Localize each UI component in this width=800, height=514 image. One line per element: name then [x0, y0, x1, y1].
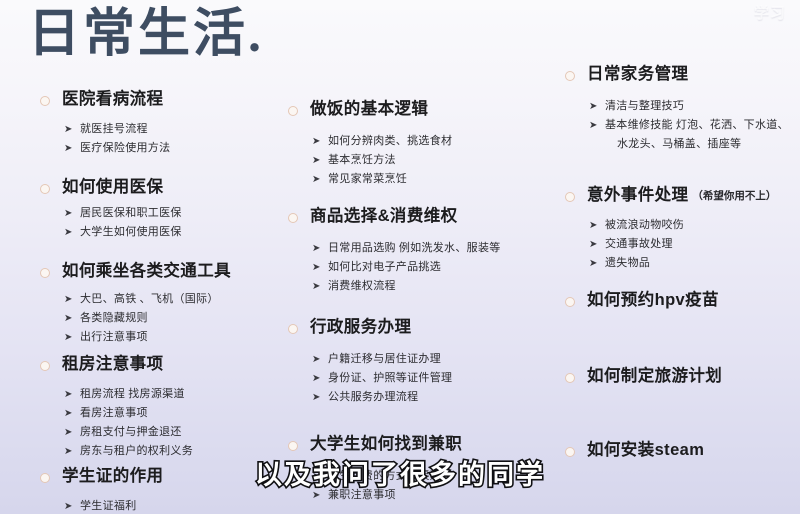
- outline-sub-item[interactable]: ➤基本烹饪方法: [288, 151, 558, 170]
- outline-sub-label: 被流浪动物咬伤: [605, 219, 684, 231]
- outline-sub-item[interactable]: ➤出行注意事项: [40, 328, 290, 347]
- outline-heading-row[interactable]: 行政服务办理: [288, 316, 558, 338]
- outline-section: 租房注意事项➤租房流程 找房源渠道➤看房注意事项➤房租支付与押金退还➤房东与租户…: [40, 353, 290, 461]
- outline-sub-item[interactable]: ➤水龙头、马桶盖、插座等: [565, 135, 800, 154]
- outline-sub-list: ➤户籍迁移与居住证办理➤身份证、护照等证件管理➤公共服务办理流程: [288, 350, 558, 407]
- arrow-right-icon: ➤: [312, 132, 321, 151]
- outline-heading-note: （希望你用不上）: [692, 188, 776, 203]
- arrow-right-icon: ➤: [64, 139, 73, 158]
- outline-sub-label: 大学生如何使用医保: [80, 226, 182, 238]
- outline-heading-row[interactable]: 如何使用医保: [40, 176, 290, 198]
- outline-heading-row[interactable]: 如何预约hpv疫苗: [565, 289, 800, 311]
- outline-sub-label: 居民医保和职工医保: [80, 207, 182, 219]
- outline-sub-label: 房租支付与押金退还: [80, 426, 182, 438]
- circle-outline-icon: [288, 213, 298, 223]
- arrow-right-icon: ➤: [64, 404, 73, 423]
- circle-outline-icon: [288, 441, 298, 451]
- outline-column-2: 做饭的基本逻辑➤如何分辨肉类、挑选食材➤基本烹饪方法➤常见家常菜烹饪商品选择&消…: [288, 0, 558, 505]
- outline-sub-item[interactable]: ➤大学生如何使用医保: [40, 223, 290, 242]
- outline-sub-label: 基本维修技能 灯泡、花洒、下水道、: [605, 119, 789, 131]
- outline-sub-label: 出行注意事项: [80, 331, 148, 343]
- outline-sub-label: 常见家常菜烹饪: [328, 173, 407, 185]
- outline-sub-label: 就医挂号流程: [80, 123, 148, 135]
- outline-sub-label: 交通事故处理: [605, 238, 673, 250]
- outline-heading-label: 大学生如何找到兼职: [310, 433, 462, 455]
- arrow-right-icon: ➤: [589, 97, 598, 116]
- circle-outline-icon: [40, 361, 50, 371]
- outline-sub-list: ➤学生证福利: [40, 497, 290, 514]
- outline-sub-label: 学生证福利: [80, 500, 137, 512]
- circle-outline-icon: [288, 324, 298, 334]
- arrow-right-icon: ➤: [312, 239, 321, 258]
- circle-outline-icon: [565, 71, 575, 81]
- outline-sub-label: 医疗保险使用方法: [80, 142, 170, 154]
- outline-sub-label: 身份证、护照等证件管理: [328, 372, 452, 384]
- outline-section: 医院看病流程➤就医挂号流程➤医疗保险使用方法: [40, 88, 290, 158]
- outline-sub-label: 各类隐藏规则: [80, 312, 148, 324]
- outline-sub-label: 看房注意事项: [80, 407, 148, 419]
- outline-heading-label: 商品选择&消费维权: [310, 205, 458, 227]
- outline-heading-row[interactable]: 大学生如何找到兼职: [288, 433, 558, 455]
- outline-heading-label: 如何使用医保: [62, 176, 163, 198]
- arrow-right-icon: ➤: [589, 216, 598, 235]
- outline-sub-label: 清洁与整理技巧: [605, 100, 684, 112]
- circle-outline-icon: [565, 297, 575, 307]
- subtitle-caption: 以及我问了很多的同学: [0, 453, 800, 492]
- outline-heading-row[interactable]: 商品选择&消费维权: [288, 205, 558, 227]
- outline-heading-row[interactable]: 做饭的基本逻辑: [288, 98, 558, 120]
- outline-heading-row[interactable]: 如何乘坐各类交通工具: [40, 260, 290, 282]
- outline-sub-list: ➤日常用品选购 例如洗发水、服装等➤如何比对电子产品挑选➤消费维权流程: [288, 239, 558, 296]
- arrow-right-icon: ➤: [589, 116, 598, 135]
- arrow-right-icon: ➤: [312, 277, 321, 296]
- outline-sub-label: 消费维权流程: [328, 280, 396, 292]
- circle-outline-icon: [565, 192, 575, 202]
- outline-heading-row[interactable]: 如何制定旅游计划: [565, 365, 800, 387]
- outline-sub-list: ➤大巴、高铁 、飞机（国际）➤各类隐藏规则➤出行注意事项: [40, 290, 290, 347]
- outline-heading-label: 租房注意事项: [62, 353, 163, 375]
- slide-canvas: 学习 日常生活. 医院看病流程➤就医挂号流程➤医疗保险使用方法如何使用医保➤居民…: [0, 0, 800, 514]
- outline-column-1: 医院看病流程➤就医挂号流程➤医疗保险使用方法如何使用医保➤居民医保和职工医保➤大…: [40, 0, 290, 514]
- outline-sub-item[interactable]: ➤清洁与整理技巧: [565, 97, 800, 116]
- circle-outline-icon: [40, 268, 50, 278]
- outline-sub-item[interactable]: ➤消费维权流程: [288, 277, 558, 296]
- outline-section: 日常家务管理➤清洁与整理技巧➤基本维修技能 灯泡、花洒、下水道、➤水龙头、马桶盖…: [565, 63, 800, 154]
- arrow-right-icon: ➤: [589, 235, 598, 254]
- outline-heading-row[interactable]: 医院看病流程: [40, 88, 290, 110]
- outline-heading-label: 医院看病流程: [62, 88, 163, 110]
- outline-sub-list: ➤清洁与整理技巧➤基本维修技能 灯泡、花洒、下水道、➤水龙头、马桶盖、插座等: [565, 97, 800, 154]
- outline-section: 如何预约hpv疫苗: [565, 289, 800, 311]
- outline-heading-label: 做饭的基本逻辑: [310, 98, 428, 120]
- outline-section: 意外事件处理（希望你用不上）➤被流浪动物咬伤➤交通事故处理➤遗失物品: [565, 184, 800, 273]
- outline-sub-list: ➤居民医保和职工医保➤大学生如何使用医保: [40, 204, 290, 242]
- outline-heading-label: 如何制定旅游计划: [587, 365, 722, 387]
- outline-heading-label: 行政服务办理: [310, 316, 411, 338]
- outline-section: 商品选择&消费维权➤日常用品选购 例如洗发水、服装等➤如何比对电子产品挑选➤消费…: [288, 205, 558, 296]
- arrow-right-icon: ➤: [312, 350, 321, 369]
- outline-sub-item[interactable]: ➤看房注意事项: [40, 404, 290, 423]
- outline-sub-item[interactable]: ➤如何分辨肉类、挑选食材: [288, 132, 558, 151]
- circle-outline-icon: [40, 96, 50, 106]
- outline-sub-label: 基本烹饪方法: [328, 154, 396, 166]
- arrow-right-icon: ➤: [312, 258, 321, 277]
- arrow-right-icon: ➤: [64, 120, 73, 139]
- outline-section: 如何制定旅游计划: [565, 365, 800, 387]
- outline-sub-item[interactable]: ➤常见家常菜烹饪: [288, 170, 558, 189]
- outline-sub-item[interactable]: ➤遗失物品: [565, 254, 800, 273]
- outline-heading-row[interactable]: 租房注意事项: [40, 353, 290, 375]
- outline-heading-row[interactable]: 日常家务管理: [565, 63, 800, 85]
- outline-sub-item[interactable]: ➤基本维修技能 灯泡、花洒、下水道、: [565, 116, 800, 135]
- outline-sub-item[interactable]: ➤户籍迁移与居住证办理: [288, 350, 558, 369]
- outline-sub-list: ➤租房流程 找房源渠道➤看房注意事项➤房租支付与押金退还➤房东与租户的权利义务: [40, 385, 290, 461]
- outline-heading-row[interactable]: 意外事件处理（希望你用不上）: [565, 184, 800, 206]
- outline-sub-list: ➤被流浪动物咬伤➤交通事故处理➤遗失物品: [565, 216, 800, 273]
- outline-sub-item[interactable]: ➤租房流程 找房源渠道: [40, 385, 290, 404]
- arrow-right-icon: ➤: [312, 369, 321, 388]
- outline-sub-item[interactable]: ➤居民医保和职工医保: [40, 204, 290, 223]
- arrow-right-icon: ➤: [312, 170, 321, 189]
- outline-sub-label: 租房流程 找房源渠道: [80, 388, 185, 400]
- outline-sub-item[interactable]: ➤学生证福利: [40, 497, 290, 514]
- outline-section: 做饭的基本逻辑➤如何分辨肉类、挑选食材➤基本烹饪方法➤常见家常菜烹饪: [288, 98, 558, 189]
- outline-sub-item[interactable]: ➤大巴、高铁 、飞机（国际）: [40, 290, 290, 309]
- arrow-right-icon: ➤: [64, 290, 73, 309]
- circle-outline-icon: [40, 184, 50, 194]
- outline-section: 行政服务办理➤户籍迁移与居住证办理➤身份证、护照等证件管理➤公共服务办理流程: [288, 316, 558, 407]
- outline-sub-item[interactable]: ➤公共服务办理流程: [288, 388, 558, 407]
- arrow-right-icon: ➤: [64, 328, 73, 347]
- arrow-right-icon: ➤: [312, 151, 321, 170]
- outline-sub-item[interactable]: ➤身份证、护照等证件管理: [288, 369, 558, 388]
- outline-sub-item[interactable]: ➤就医挂号流程: [40, 120, 290, 139]
- outline-sub-list: ➤就医挂号流程➤医疗保险使用方法: [40, 120, 290, 158]
- arrow-right-icon: ➤: [312, 388, 321, 407]
- outline-heading-label: 日常家务管理: [587, 63, 688, 85]
- arrow-right-icon: ➤: [64, 223, 73, 242]
- outline-column-3: 日常家务管理➤清洁与整理技巧➤基本维修技能 灯泡、花洒、下水道、➤水龙头、马桶盖…: [565, 0, 800, 461]
- outline-sub-label: 日常用品选购 例如洗发水、服装等: [328, 242, 501, 254]
- outline-sub-item[interactable]: ➤如何比对电子产品挑选: [288, 258, 558, 277]
- outline-sub-item[interactable]: ➤被流浪动物咬伤: [565, 216, 800, 235]
- outline-sub-item[interactable]: ➤交通事故处理: [565, 235, 800, 254]
- outline-sub-label: 水龙头、马桶盖、插座等: [617, 138, 741, 150]
- outline-sub-list: ➤如何分辨肉类、挑选食材➤基本烹饪方法➤常见家常菜烹饪: [288, 132, 558, 189]
- arrow-right-icon: ➤: [64, 423, 73, 442]
- outline-sub-item[interactable]: ➤医疗保险使用方法: [40, 139, 290, 158]
- outline-sub-label: 户籍迁移与居住证办理: [328, 353, 441, 365]
- outline-sub-item[interactable]: ➤日常用品选购 例如洗发水、服装等: [288, 239, 558, 258]
- outline-sub-label: 公共服务办理流程: [328, 391, 418, 403]
- arrow-right-icon: ➤: [64, 309, 73, 328]
- outline-sub-item[interactable]: ➤各类隐藏规则: [40, 309, 290, 328]
- outline-sub-label: 大巴、高铁 、飞机（国际）: [80, 293, 219, 305]
- circle-outline-icon: [288, 106, 298, 116]
- arrow-right-icon: ➤: [64, 497, 73, 514]
- arrow-right-icon: ➤: [589, 254, 598, 273]
- outline-heading-label: 如何乘坐各类交通工具: [62, 260, 231, 282]
- arrow-right-icon: ➤: [64, 385, 73, 404]
- arrow-right-icon: ➤: [64, 204, 73, 223]
- outline-sub-label: 如何分辨肉类、挑选食材: [328, 135, 452, 147]
- outline-heading-label: 如何预约hpv疫苗: [587, 289, 719, 311]
- circle-outline-icon: [565, 373, 575, 383]
- outline-section: 如何乘坐各类交通工具➤大巴、高铁 、飞机（国际）➤各类隐藏规则➤出行注意事项: [40, 260, 290, 347]
- outline-heading-label: 意外事件处理: [587, 184, 688, 206]
- outline-sub-label: 遗失物品: [605, 257, 650, 269]
- outline-sub-item[interactable]: ➤房租支付与押金退还: [40, 423, 290, 442]
- outline-section: 如何使用医保➤居民医保和职工医保➤大学生如何使用医保: [40, 176, 290, 242]
- outline-sub-label: 如何比对电子产品挑选: [328, 261, 441, 273]
